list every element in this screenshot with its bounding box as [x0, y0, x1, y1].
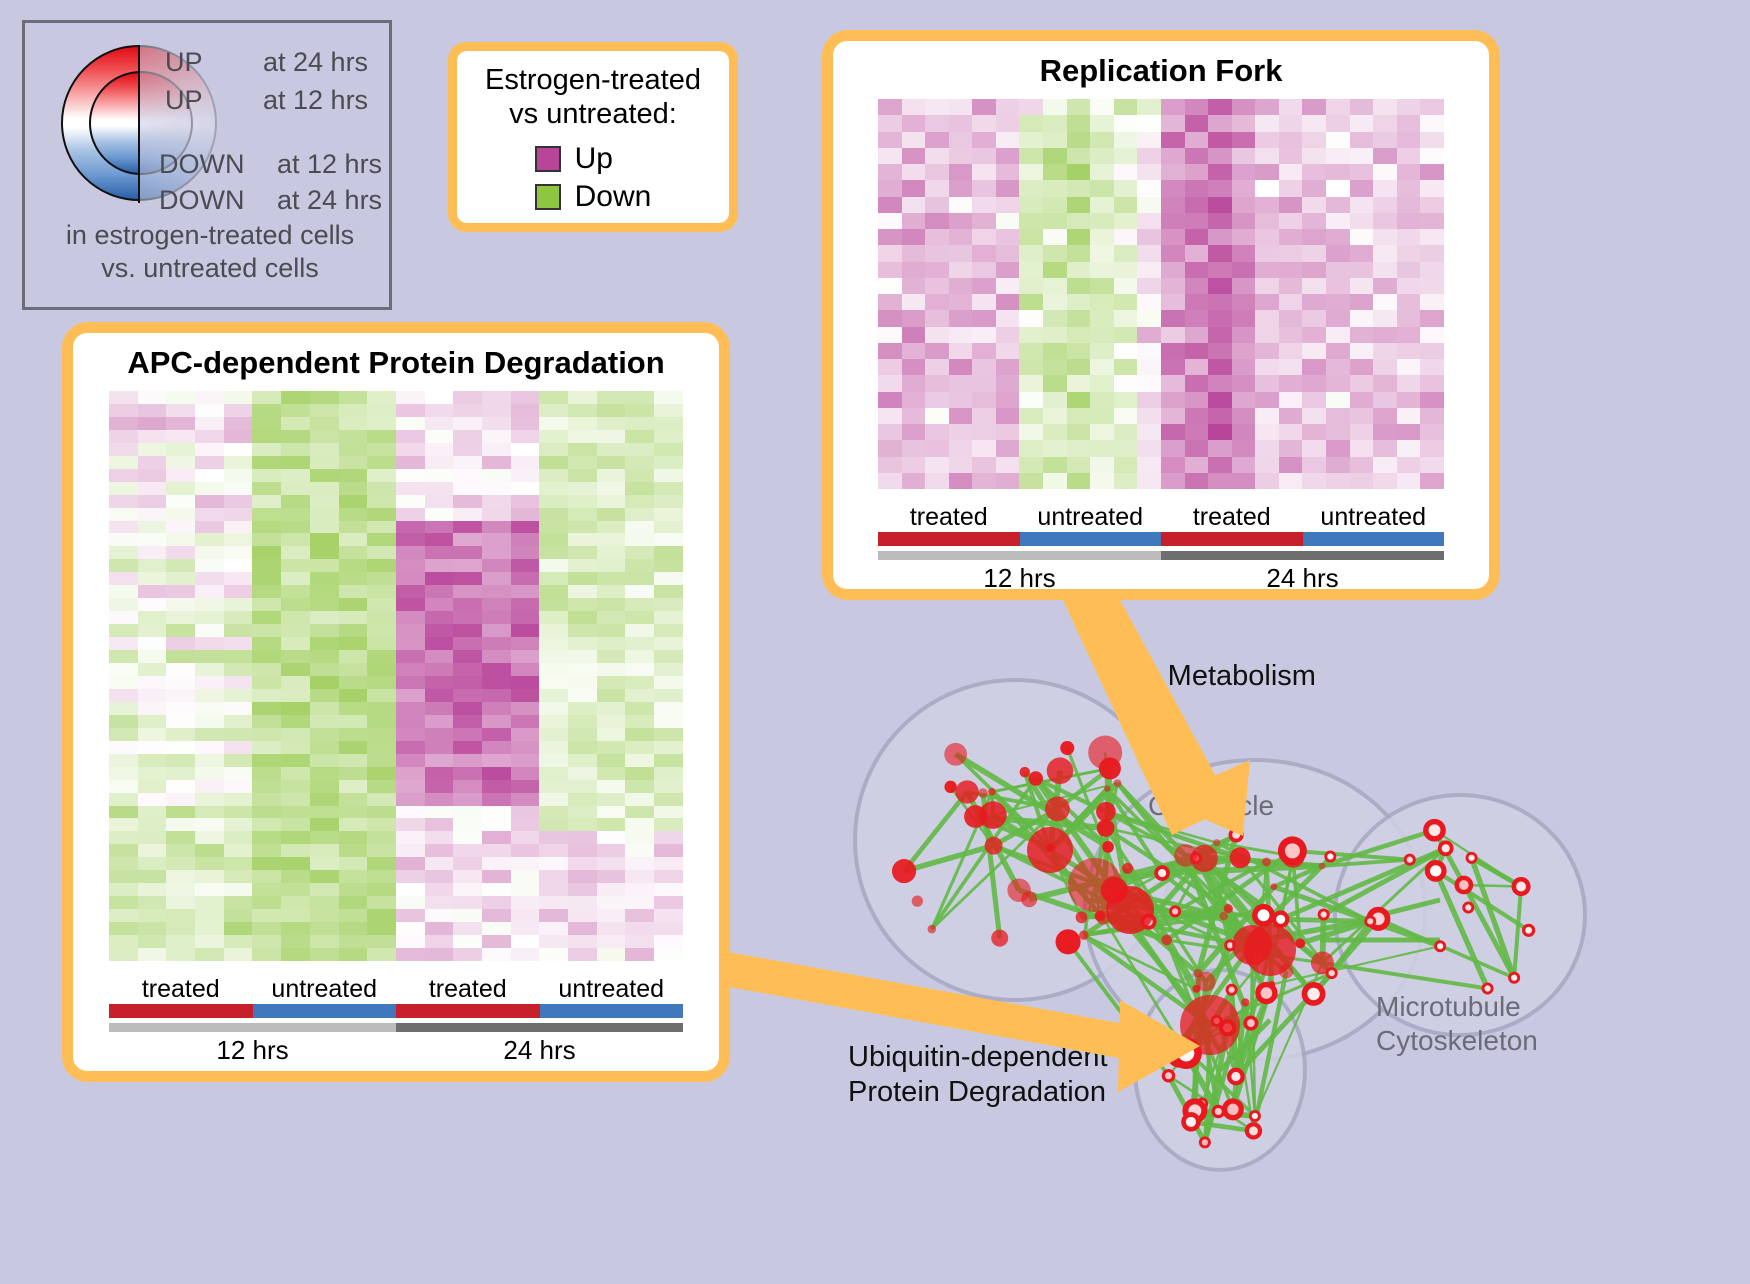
network-node[interactable] [1232, 925, 1272, 965]
heatmap-cell [1302, 440, 1326, 456]
panel-replication-fork: Replication Fork treateduntreatedtreated… [822, 30, 1500, 600]
network-node[interactable] [1079, 930, 1088, 939]
heatmap-cell [1302, 197, 1326, 213]
heatmap-cell [453, 728, 482, 741]
heatmap-cell [425, 909, 454, 922]
heatmap-cell [539, 469, 568, 482]
heatmap-cell [568, 844, 597, 857]
heatmap-cell [972, 213, 996, 229]
heatmap-cell [972, 197, 996, 213]
heatmap-cell [878, 359, 902, 375]
network-node[interactable] [1007, 879, 1030, 902]
heatmap-cell [252, 456, 281, 469]
heatmap-cell [878, 132, 902, 148]
key-entry-up: Up [535, 142, 652, 176]
wheel-time-down-24: at 24 hrs [277, 185, 382, 216]
heatmap-cell [1279, 180, 1303, 196]
network-node-core [1407, 857, 1413, 863]
heatmap-cell [625, 728, 654, 741]
heatmap-cell [654, 857, 683, 870]
heatmap-cell [166, 883, 195, 896]
colorwheel-footer: in estrogen-treated cells vs. untreated … [25, 219, 395, 285]
heatmap-cell [396, 870, 425, 883]
network-node[interactable] [1270, 883, 1277, 890]
network-node[interactable] [1060, 741, 1074, 755]
heatmap-cell [597, 637, 626, 650]
heatmap-cell [453, 495, 482, 508]
network-node[interactable] [988, 788, 996, 796]
heatmap-cell [367, 650, 396, 663]
heatmap-cell [654, 754, 683, 767]
network-node[interactable] [944, 743, 967, 766]
heatmap-cell [1397, 148, 1421, 164]
heatmap-cell [972, 164, 996, 180]
heatmap-cell [625, 754, 654, 767]
network-node[interactable] [978, 788, 988, 798]
heatmap-cell [396, 831, 425, 844]
network-node[interactable] [1262, 857, 1271, 866]
heatmap-cell [654, 637, 683, 650]
heatmap-cell [1397, 343, 1421, 359]
heatmap-cell [902, 180, 926, 196]
heatmap-cell [224, 767, 253, 780]
heatmap-cell [1350, 310, 1374, 326]
network-node[interactable] [1076, 911, 1088, 923]
heatmap-cell [109, 896, 138, 909]
heatmap-cell [310, 585, 339, 598]
network-node[interactable] [1104, 786, 1110, 792]
heatmap-cell [996, 327, 1020, 343]
heatmap-cell [1420, 115, 1444, 131]
network-node[interactable] [1219, 912, 1227, 920]
heatmap-cell [339, 715, 368, 728]
network-node[interactable] [912, 895, 923, 906]
heatmap-cell [1067, 375, 1091, 391]
network-node-core [1516, 882, 1526, 892]
network-node[interactable] [1095, 911, 1106, 922]
heatmap-cell [597, 559, 626, 572]
network-node[interactable] [1114, 779, 1122, 787]
heatmap-cell [1326, 424, 1350, 440]
heatmap-cell [252, 741, 281, 754]
heatmap-cell [511, 806, 540, 819]
heatmap-cell [396, 611, 425, 624]
heatmap-cell [367, 482, 396, 495]
axis-apc: treateduntreatedtreateduntreated 12 hrs2… [109, 975, 683, 1066]
network-node[interactable] [1319, 863, 1326, 870]
heatmap-cell [1302, 115, 1326, 131]
heatmap-cell [1373, 132, 1397, 148]
heatmap-cell [109, 559, 138, 572]
heatmap-cell [925, 375, 949, 391]
heatmap-cell [425, 572, 454, 585]
heatmap-cell [425, 469, 454, 482]
heatmap-cell [1185, 262, 1209, 278]
heatmap-cell [453, 793, 482, 806]
heatmap-cell [453, 780, 482, 793]
heatmap-cell [1137, 408, 1161, 424]
heatmap-cell [195, 844, 224, 857]
heatmap-cell [511, 818, 540, 831]
heatmap-cell [339, 754, 368, 767]
heatmap-cell [1279, 278, 1303, 294]
heatmap-cell [367, 935, 396, 948]
network-node[interactable] [1241, 998, 1249, 1006]
heatmap-cell [195, 430, 224, 443]
heatmap-cell [597, 456, 626, 469]
heatmap-cell [654, 702, 683, 715]
heatmap-cell [425, 404, 454, 417]
heatmap-cell [1326, 180, 1350, 196]
heatmap-cell [453, 870, 482, 883]
heatmap-cell [482, 404, 511, 417]
network-node[interactable] [892, 859, 916, 883]
heatmap-cell [1161, 473, 1185, 489]
heatmap-cell [339, 702, 368, 715]
heatmap-cell [539, 883, 568, 896]
heatmap-replication-fork [878, 99, 1444, 489]
network-node[interactable] [1029, 771, 1043, 785]
heatmap-cell [1397, 262, 1421, 278]
heatmap-cell [396, 715, 425, 728]
heatmap-cell [166, 611, 195, 624]
heatmap-cell [1137, 245, 1161, 261]
network-node[interactable] [1230, 847, 1251, 868]
wheel-label-down-12: DOWN [159, 149, 244, 180]
heatmap-cell [138, 754, 167, 767]
heatmap-cell [453, 676, 482, 689]
heatmap-cell [654, 391, 683, 404]
heatmap-cell [1350, 294, 1374, 310]
heatmap-cell [1090, 359, 1114, 375]
heatmap-cell [138, 831, 167, 844]
heatmap-cell [425, 896, 454, 909]
network-node[interactable] [1180, 995, 1240, 1055]
heatmap-cell [654, 443, 683, 456]
heatmap-cell [396, 521, 425, 534]
heatmap-cell [310, 572, 339, 585]
cluster-label-dna-metabolism: DNA Metabolism [1100, 660, 1316, 693]
heatmap-cell [996, 99, 1020, 115]
heatmap-cell [425, 417, 454, 430]
network-node[interactable] [979, 801, 1007, 829]
heatmap-cell [195, 585, 224, 598]
heatmap-cell [109, 546, 138, 559]
heatmap-cell [310, 857, 339, 870]
heatmap-cell [654, 430, 683, 443]
heatmap-cell [625, 624, 654, 637]
heatmap-cell [625, 572, 654, 585]
network-node[interactable] [1099, 757, 1121, 779]
network-node[interactable] [1097, 819, 1115, 837]
heatmap-cell [511, 767, 540, 780]
heatmap-cell [654, 728, 683, 741]
heatmap-cell [1114, 213, 1138, 229]
heatmap-cell [1161, 262, 1185, 278]
heatmap-cell [511, 637, 540, 650]
heatmap-cell [1090, 245, 1114, 261]
axis-time-label: 12 hrs [878, 563, 1161, 594]
heatmap-cell [539, 546, 568, 559]
heatmap-cell [1232, 408, 1256, 424]
heatmap-cell [996, 424, 1020, 440]
heatmap-cell [902, 327, 926, 343]
network-node[interactable] [1161, 935, 1172, 946]
network-node[interactable] [1194, 969, 1203, 978]
network-node-core [1172, 908, 1178, 914]
heatmap-cell [1019, 213, 1043, 229]
heatmap-cell [654, 572, 683, 585]
heatmap-cell [1185, 392, 1209, 408]
heatmap-cell [166, 430, 195, 443]
heatmap-cell [138, 430, 167, 443]
heatmap-cell [597, 521, 626, 534]
heatmap-cell [281, 754, 310, 767]
heatmap-cell [1067, 278, 1091, 294]
heatmap-cell [1019, 180, 1043, 196]
heatmap-cell [902, 343, 926, 359]
heatmap-cell [138, 922, 167, 935]
heatmap-cell [252, 508, 281, 521]
heatmap-cell [339, 585, 368, 598]
heatmap-cell [224, 456, 253, 469]
heatmap-cell [138, 443, 167, 456]
heatmap-cell [195, 806, 224, 819]
heatmap-cell [482, 598, 511, 611]
heatmap-cell [281, 430, 310, 443]
heatmap-cell [568, 469, 597, 482]
wheel-time-up-12: at 12 hrs [263, 85, 368, 116]
heatmap-cell [1114, 180, 1138, 196]
heatmap-cell [1161, 115, 1185, 131]
heatmap-cell [511, 650, 540, 663]
heatmap-cell [539, 689, 568, 702]
heatmap-cell [166, 546, 195, 559]
network-node[interactable] [1224, 904, 1233, 913]
heatmap-cell [1043, 229, 1067, 245]
heatmap-cell [1067, 245, 1091, 261]
network-node[interactable] [985, 837, 1003, 855]
heatmap-cell [539, 741, 568, 754]
heatmap-cell [972, 99, 996, 115]
network-node[interactable] [1045, 796, 1070, 821]
heatmap-cell [511, 559, 540, 572]
heatmap-cell [224, 948, 253, 961]
heatmap-cell [1420, 392, 1444, 408]
heatmap-cell [539, 806, 568, 819]
heatmap-cell [367, 533, 396, 546]
heatmap-cell [224, 559, 253, 572]
heatmap-cell [597, 715, 626, 728]
network-node-core [1215, 1108, 1222, 1115]
heatmap-cell [482, 948, 511, 961]
heatmap-cell [539, 676, 568, 689]
heatmap-cell [109, 482, 138, 495]
heatmap-cell [1114, 408, 1138, 424]
heatmap-cell [597, 883, 626, 896]
network-node[interactable] [1213, 839, 1220, 846]
network-node[interactable] [1122, 863, 1133, 874]
network-node[interactable] [1027, 827, 1073, 873]
heatmap-cell [1326, 359, 1350, 375]
heatmap-cell [878, 245, 902, 261]
heatmap-cell [310, 948, 339, 961]
heatmap-cell [1302, 310, 1326, 326]
heatmap-cell [1161, 310, 1185, 326]
heatmap-cell [949, 440, 973, 456]
heatmap-cell [425, 935, 454, 948]
heatmap-cell [539, 935, 568, 948]
heatmap-cell [1208, 115, 1232, 131]
heatmap-cell [339, 780, 368, 793]
heatmap-cell [310, 495, 339, 508]
heatmap-cell [310, 443, 339, 456]
heatmap-cell [252, 469, 281, 482]
heatmap-cell [1185, 132, 1209, 148]
heatmap-cell [925, 343, 949, 359]
heatmap-cell [109, 728, 138, 741]
heatmap-cell [1232, 327, 1256, 343]
heatmap-cell [109, 844, 138, 857]
heatmap-cell [654, 909, 683, 922]
axis-time-color-bar [109, 1023, 396, 1032]
heatmap-cell [138, 935, 167, 948]
heatmap-cell [453, 508, 482, 521]
heatmap-cell [1114, 473, 1138, 489]
heatmap-cell [1232, 132, 1256, 148]
heatmap-cell [1019, 262, 1043, 278]
heatmap-cell [902, 213, 926, 229]
axis-time-label: 24 hrs [396, 1035, 683, 1066]
heatmap-cell [625, 676, 654, 689]
heatmap-cell [453, 546, 482, 559]
heatmap-cell [195, 546, 224, 559]
heatmap-cell [339, 404, 368, 417]
heatmap-cell [539, 715, 568, 728]
heatmap-cell [252, 559, 281, 572]
network-node[interactable] [1106, 886, 1154, 934]
heatmap-cell [453, 559, 482, 572]
heatmap-cell [1279, 148, 1303, 164]
heatmap-cell [1090, 164, 1114, 180]
network-node[interactable] [991, 930, 1008, 947]
heatmap-cell [568, 624, 597, 637]
heatmap-cell [425, 948, 454, 961]
heatmap-cell [949, 262, 973, 278]
network-node[interactable] [956, 780, 979, 803]
heatmap-cell [195, 624, 224, 637]
heatmap-cell [482, 922, 511, 935]
heatmap-cell [1090, 457, 1114, 473]
heatmap-cell [109, 857, 138, 870]
heatmap-cell [482, 754, 511, 767]
network-node[interactable] [1020, 767, 1031, 778]
heatmap-cell [1137, 457, 1161, 473]
heatmap-cell [1043, 245, 1067, 261]
heatmap-cell [597, 948, 626, 961]
heatmap-cell [625, 508, 654, 521]
heatmap-cell [195, 870, 224, 883]
heatmap-cell [367, 715, 396, 728]
heatmap-cell [1350, 473, 1374, 489]
heatmap-cell [453, 663, 482, 676]
heatmap-cell [1350, 132, 1374, 148]
heatmap-cell [1137, 375, 1161, 391]
heatmap-cell [1279, 375, 1303, 391]
heatmap-cell [539, 495, 568, 508]
heatmap-cell [511, 417, 540, 430]
heatmap-cell [252, 611, 281, 624]
heatmap-cell [281, 689, 310, 702]
heatmap-cell [166, 909, 195, 922]
heatmap-cell [1161, 278, 1185, 294]
heatmap-cell [224, 404, 253, 417]
network-node[interactable] [1096, 802, 1116, 822]
network-node[interactable] [1191, 845, 1218, 872]
heatmap-cell [625, 637, 654, 650]
network-node[interactable] [944, 781, 956, 793]
heatmap-cell [339, 896, 368, 909]
heatmap-cell [1185, 327, 1209, 343]
heatmap-cell [310, 521, 339, 534]
heatmap-cell [195, 495, 224, 508]
heatmap-cell [511, 585, 540, 598]
heatmap-cell [425, 456, 454, 469]
heatmap-cell [972, 457, 996, 473]
heatmap-cell [166, 456, 195, 469]
heatmap-cell [224, 831, 253, 844]
heatmap-cell [597, 611, 626, 624]
heatmap-cell [281, 728, 310, 741]
heatmap-cell [625, 780, 654, 793]
heatmap-cell [654, 508, 683, 521]
heatmap-cell [511, 443, 540, 456]
heatmap-cell [281, 831, 310, 844]
heatmap-cell [482, 818, 511, 831]
heatmap-cell [1302, 424, 1326, 440]
heatmap-cell [138, 533, 167, 546]
heatmap-cell [1019, 115, 1043, 131]
network-node[interactable] [1295, 938, 1305, 948]
heatmap-cell [878, 457, 902, 473]
network-node-core [1525, 927, 1532, 934]
heatmap-cell [339, 728, 368, 741]
heatmap-cell [1373, 392, 1397, 408]
axis-group-color-bar [396, 1004, 540, 1018]
heatmap-cell [1161, 440, 1185, 456]
heatmap-cell [1302, 392, 1326, 408]
heatmap-cell [339, 417, 368, 430]
heatmap-cell [1185, 473, 1209, 489]
heatmap-cell [625, 870, 654, 883]
heatmap-cell [902, 99, 926, 115]
heatmap-cell [511, 391, 540, 404]
heatmap-cell [224, 624, 253, 637]
network-node[interactable] [927, 925, 936, 934]
heatmap-cell [654, 715, 683, 728]
heatmap-cell [195, 909, 224, 922]
heatmap-cell [1185, 294, 1209, 310]
network-node[interactable] [1056, 929, 1081, 954]
network-node[interactable] [1047, 757, 1074, 784]
heatmap-cell [654, 793, 683, 806]
heatmap-cell [597, 508, 626, 521]
heatmap-cell [367, 456, 396, 469]
network-node[interactable] [1102, 841, 1114, 853]
heatmap-cell [453, 469, 482, 482]
heatmap-cell [1373, 115, 1397, 131]
heatmap-cell [925, 115, 949, 131]
